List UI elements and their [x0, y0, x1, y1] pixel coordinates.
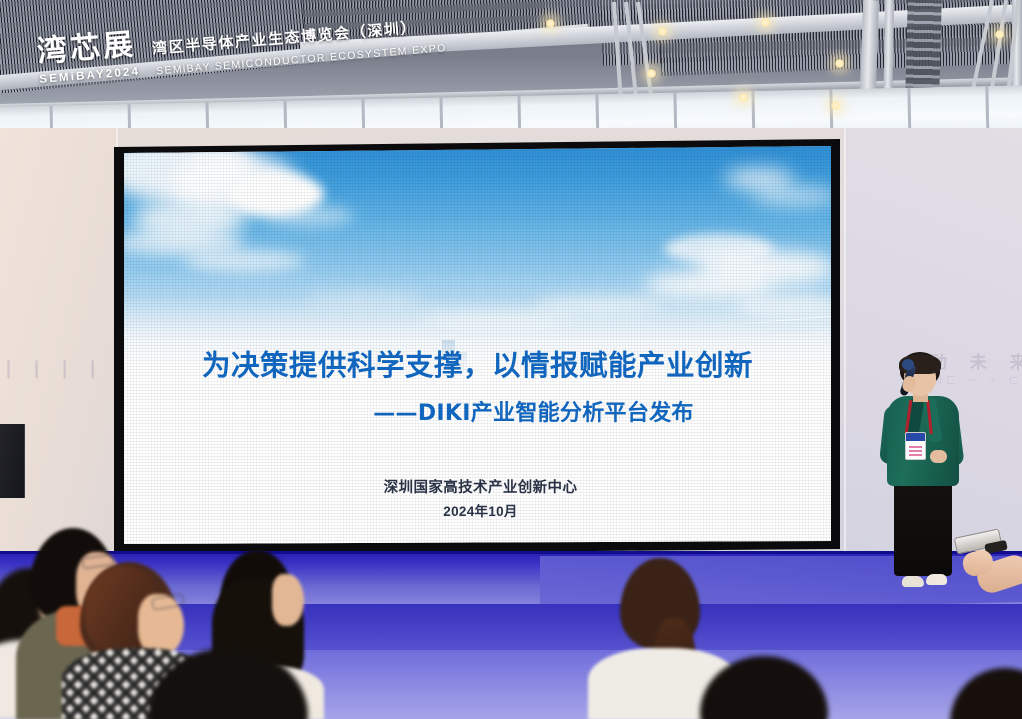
wall-mounted-speaker	[0, 424, 25, 498]
cloud	[264, 206, 354, 226]
ceiling-spotlight	[830, 100, 841, 111]
banner-logo-cn: 湾芯展	[36, 30, 137, 68]
led-screen[interactable]: 为决策提供科学支撑，以情报赋能产业创新 ——DIKI产业智能分析平台发布 深圳国…	[124, 146, 831, 544]
ceiling-spotlight	[760, 17, 771, 28]
microphone-head	[902, 359, 914, 370]
wall-seam	[844, 128, 846, 598]
presenter-feet	[902, 570, 944, 586]
venue-ceiling: 湾芯展 湾区半导体产业生态博览会（深圳） SEMiBAY2024 SEMiBAY…	[0, 0, 1022, 142]
cloud	[752, 186, 831, 206]
slide-date: 2024年10月	[124, 500, 831, 520]
slide-organization: 深圳国家高技术产业创新中心	[124, 476, 831, 497]
ceiling-spotlight	[657, 26, 668, 37]
presenter-skirt	[894, 480, 952, 576]
ceiling-spotlight	[994, 29, 1005, 40]
presenter-hand	[930, 450, 947, 463]
presenter-badge	[905, 432, 926, 460]
slide-subtitle: ——DIKI产业智能分析平台发布	[124, 395, 831, 427]
presenter-shoe	[926, 574, 947, 585]
ceiling-spotlight	[545, 18, 556, 29]
audience-hand-with-phone	[955, 525, 1022, 597]
conference-photo-scene: 湾芯展 湾区半导体产业生态博览会（深圳） SEMiBAY2024 SEMiBAY…	[0, 0, 1022, 719]
slide-title: 为决策提供科学支撑，以情报赋能产业创新	[124, 350, 831, 381]
wall-ghost-text-left: | | | |	[6, 358, 104, 379]
ceiling-spotlight	[834, 58, 845, 69]
ceiling-spotlight	[738, 92, 749, 103]
presenter-shoe	[902, 576, 924, 587]
cloud	[184, 250, 304, 272]
ceiling-spotlight	[646, 68, 657, 79]
audience-member-4-face	[272, 574, 304, 626]
